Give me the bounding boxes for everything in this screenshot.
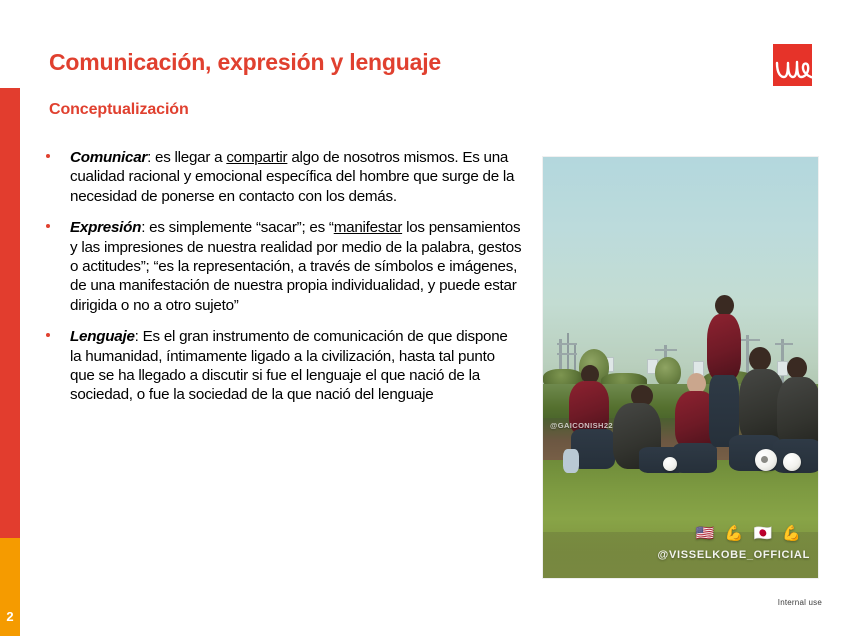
ue-logo <box>773 44 812 86</box>
bullet-separator: : es simplemente “sacar”; es “ <box>141 219 334 236</box>
soccer-ball-icon <box>663 457 677 471</box>
bullet-term: Expresión <box>70 219 141 236</box>
slide-photo: @GAICONISH22 🇺🇸 💪 🇯🇵 💪 @VISSELKOBE_OFFIC… <box>543 157 818 578</box>
pole-crossbar-icon <box>557 343 577 345</box>
pole-crossbar-icon <box>655 349 677 351</box>
list-item: Comunicar: es llegar a compartir algo de… <box>40 148 522 206</box>
footer-confidentiality-note: Internal use <box>778 598 822 607</box>
bullet-term: Lenguaje <box>70 328 135 345</box>
bullet-separator: : <box>135 328 143 345</box>
pole-crossbar-icon <box>775 343 793 345</box>
slide-title: Comunicación, expresión y lenguaje <box>49 50 519 75</box>
player-head <box>749 347 771 371</box>
player-head <box>787 357 807 379</box>
list-item: Lenguaje: Es el gran instrumento de comu… <box>40 327 522 405</box>
photo-watermark-author: @GAICONISH22 <box>550 421 613 430</box>
bullet-dot-icon <box>46 333 50 337</box>
soccer-ball-icon <box>783 453 801 471</box>
bullet-dot-icon <box>46 224 50 228</box>
accent-bar-red-segment <box>0 88 20 538</box>
page-number: 2 <box>0 596 20 636</box>
tree-icon <box>655 357 681 387</box>
player-torso <box>707 314 741 380</box>
photo-watermark-account: @VISSELKOBE_OFFICIAL <box>658 549 810 561</box>
bullet-underlined-word: compartir <box>226 149 287 166</box>
bullet-underlined-word: manifestar <box>334 219 402 236</box>
player-head <box>715 295 734 316</box>
player-sock <box>563 449 579 473</box>
pole-crossbar-icon <box>739 339 760 341</box>
photo-watermark-emoji: 🇺🇸 💪 🇯🇵 💪 <box>696 524 804 542</box>
ue-wordmark-icon <box>773 50 823 86</box>
player-legs <box>673 443 717 473</box>
list-item: Expresión: es simplemente “sacar”; es “m… <box>40 218 522 315</box>
left-accent-bar <box>0 88 20 636</box>
slide-subtitle: Conceptualización <box>49 101 519 119</box>
pole-crossbar-icon <box>557 353 577 355</box>
bullet-separator: : es llegar a <box>147 149 226 166</box>
bullet-list: Comunicar: es llegar a compartir algo de… <box>40 148 522 417</box>
slide-canvas: 2 Comunicación, expresión y lenguaje Con… <box>0 0 848 636</box>
bullet-term: Comunicar <box>70 149 147 166</box>
bullet-dot-icon <box>46 154 50 158</box>
soccer-ball-icon <box>755 449 777 471</box>
